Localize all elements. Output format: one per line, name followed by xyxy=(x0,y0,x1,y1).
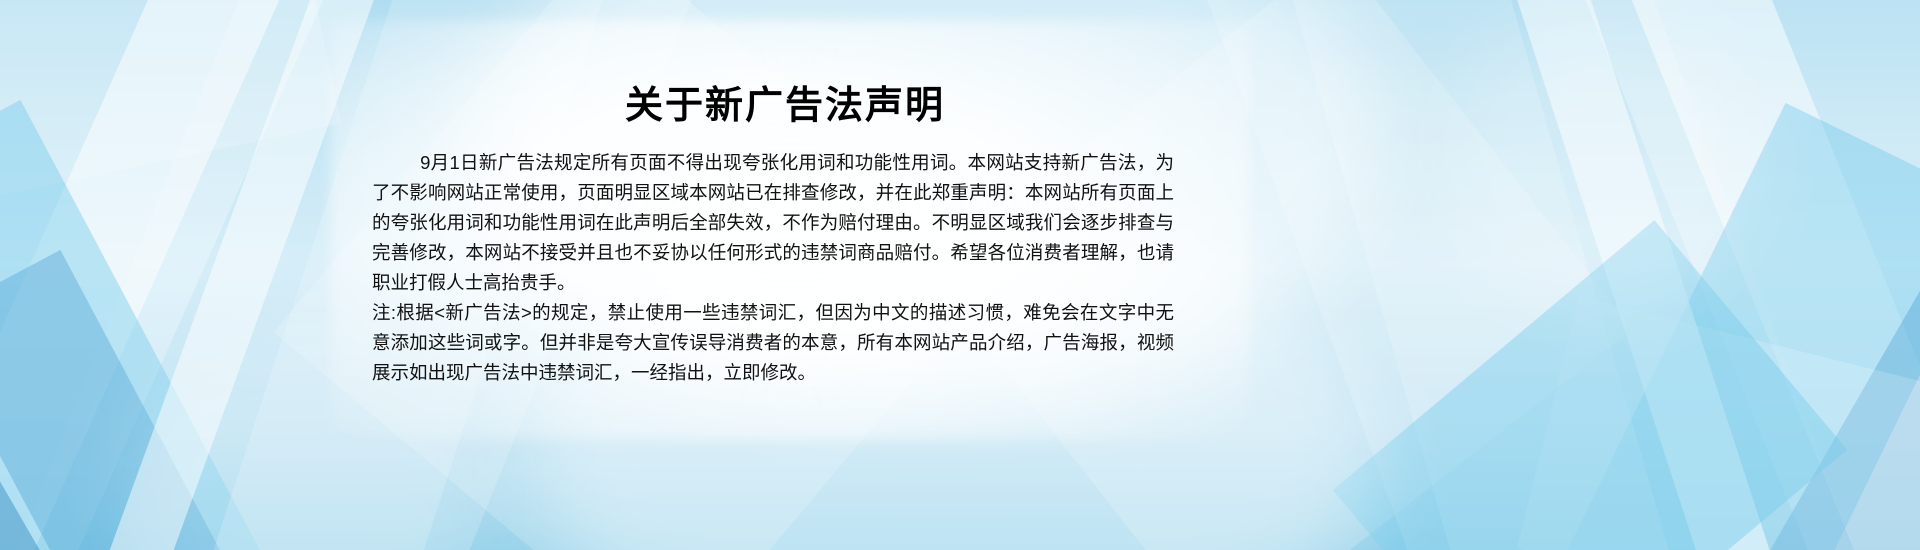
page-title: 关于新广告法声明 xyxy=(0,84,1570,130)
advertising-law-disclaimer-banner: 关于新广告法声明 9月1日新广告法规定所有页面不得出现夸张化用词和功能性用词。本… xyxy=(0,0,1920,550)
disclaimer-note-paragraph: 注:根据<新广告法>的规定，禁止使用一些违禁词汇，但因为中文的描述习惯，难免会在… xyxy=(372,298,1174,388)
banner-content: 关于新广告法声明 9月1日新广告法规定所有页面不得出现夸张化用词和功能性用词。本… xyxy=(0,0,1920,550)
disclaimer-body: 9月1日新广告法规定所有页面不得出现夸张化用词和功能性用词。本网站支持新广告法，… xyxy=(372,148,1174,388)
disclaimer-paragraph: 9月1日新广告法规定所有页面不得出现夸张化用词和功能性用词。本网站支持新广告法，… xyxy=(372,148,1174,298)
